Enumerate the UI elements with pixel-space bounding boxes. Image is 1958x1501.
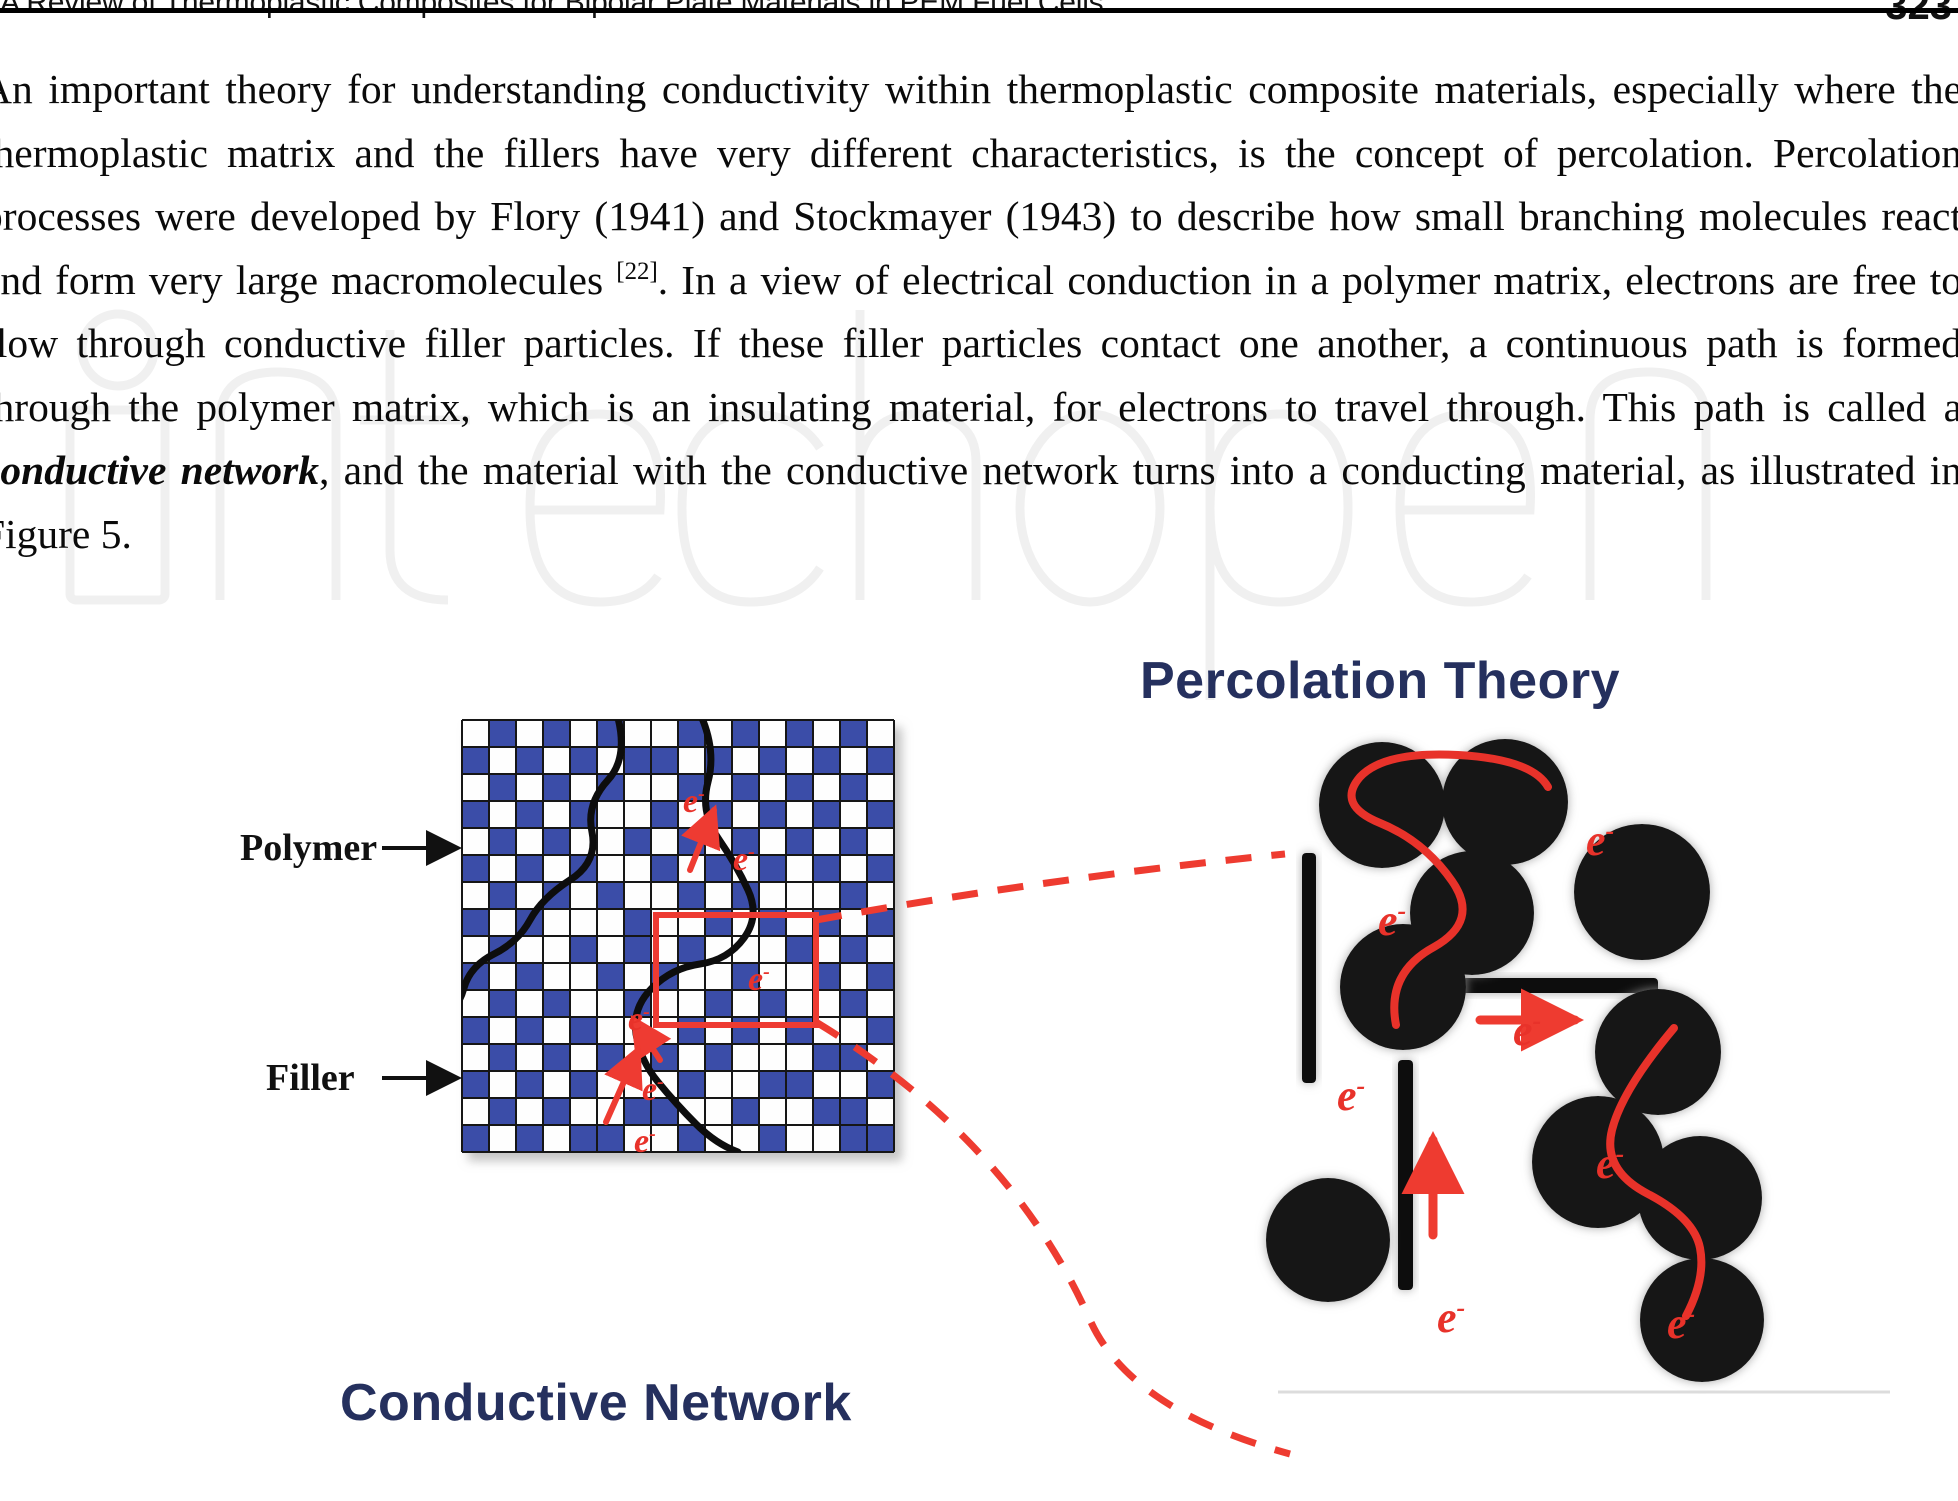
article-body-text: An important theory for understanding co… xyxy=(0,58,1958,566)
figure-svg: e- e- e- e- e- e- Polymer Filler Percola… xyxy=(230,620,1930,1480)
carbon-particle xyxy=(1266,1178,1390,1302)
percolation-lattice: e- e- e- e- e- e- xyxy=(320,718,894,1212)
label-filler: Filler xyxy=(266,1057,355,1099)
header-page-number: 323 xyxy=(1885,0,1952,29)
figure-5-percolation-theory: e- e- e- e- e- e- Polymer Filler Percola… xyxy=(230,620,1930,1480)
svg-text:e-: e- xyxy=(1337,1071,1365,1120)
label-polymer: Polymer xyxy=(240,827,377,869)
svg-text:e-: e- xyxy=(1513,1006,1541,1055)
carbon-fiber-bar-vertical-center xyxy=(1398,1060,1413,1290)
citation-reference-22: [22] xyxy=(616,258,657,285)
body-paragraph: An important theory for understanding co… xyxy=(0,58,1958,566)
svg-text:e-: e- xyxy=(634,1123,656,1160)
conductive-network-particles: e- e- e- e- e- e- e- xyxy=(1266,739,1890,1392)
carbon-fiber-bar-horizontal xyxy=(1458,978,1658,993)
label-polymer-group: Polymer xyxy=(240,827,458,869)
label-filler-group: Filler xyxy=(266,1057,458,1099)
figure-title-conductive-network: Conductive Network xyxy=(340,1374,852,1432)
figure-title-percolation-theory: Percolation Theory xyxy=(1140,652,1620,710)
svg-text:e-: e- xyxy=(1437,1293,1465,1342)
header-rule xyxy=(0,8,1958,13)
carbon-fiber-bar-vertical-left xyxy=(1302,853,1316,1083)
emphasized-term-conductive-network: conductive network xyxy=(0,447,319,493)
running-header: A Review of Thermoplastic Composites for… xyxy=(0,0,1958,30)
